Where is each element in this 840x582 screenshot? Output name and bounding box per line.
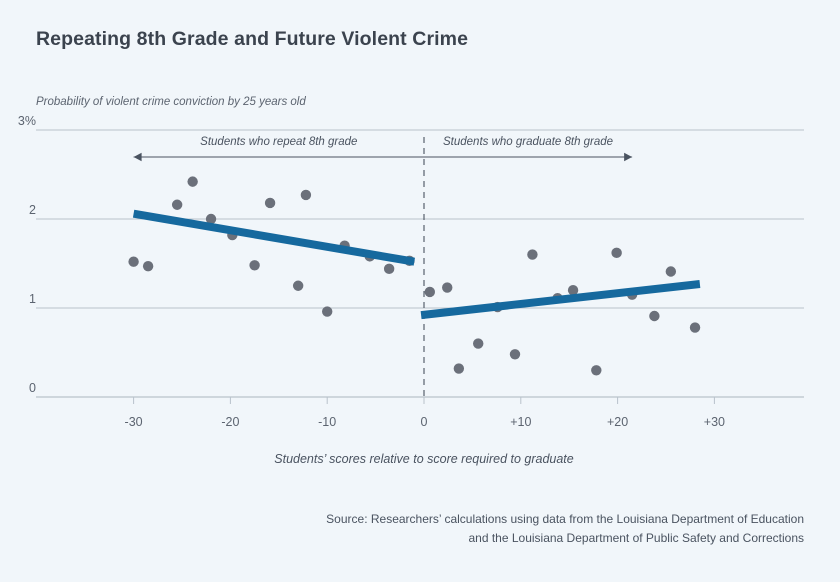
scatter-point	[187, 176, 197, 186]
annotation-arrow-head	[624, 153, 632, 161]
scatter-point	[322, 306, 332, 316]
scatter-point	[143, 261, 153, 271]
y-axis-tick-label: 3%	[10, 114, 36, 128]
fit-line-repeat	[134, 214, 415, 262]
x-axis-tick-label: -30	[125, 415, 143, 429]
scatter-point	[301, 190, 311, 200]
scatter-point	[293, 281, 303, 291]
scatter-point	[425, 287, 435, 297]
x-axis-tick-label: -20	[221, 415, 239, 429]
scatter-points-repeat	[128, 176, 414, 316]
x-axis-title: Students’ scores relative to score requi…	[274, 452, 573, 466]
fit-line-graduate	[421, 284, 700, 315]
scatter-point	[690, 322, 700, 332]
scatter-point	[442, 282, 452, 292]
scatter-point	[591, 365, 601, 375]
scatter-point	[384, 264, 394, 274]
scatter-point	[649, 311, 659, 321]
x-axis-tick-label: 0	[421, 415, 428, 429]
plot-area	[0, 0, 840, 582]
scatter-point	[265, 198, 275, 208]
scatter-point	[172, 200, 182, 210]
scatter-point	[527, 249, 537, 259]
scatter-point	[666, 266, 676, 276]
annotation-arrows	[134, 153, 633, 161]
x-axis-tick-label: -10	[318, 415, 336, 429]
chart-figure: Repeating 8th Grade and Future Violent C…	[0, 0, 840, 582]
source-line-2: and the Louisiana Department of Public S…	[204, 529, 804, 548]
annotation-label: Students who repeat 8th grade	[200, 136, 357, 148]
annotation-arrow-head	[134, 153, 142, 161]
x-axis-tick-label: +20	[607, 415, 628, 429]
source-note: Source: Researchers’ calculations using …	[204, 510, 804, 547]
fit-line	[134, 214, 415, 262]
scatter-point	[510, 349, 520, 359]
x-axis-tick-label: +30	[704, 415, 725, 429]
scatter-point	[473, 338, 483, 348]
scatter-point	[128, 257, 138, 267]
annotation-label: Students who graduate 8th grade	[443, 136, 613, 148]
y-axis-tick-label: 0	[10, 381, 36, 395]
y-axis-tick-label: 1	[10, 292, 36, 306]
y-axis-tick-label: 2	[10, 203, 36, 217]
scatter-point	[249, 260, 259, 270]
x-axis-tick-label: +10	[510, 415, 531, 429]
x-axis-ticks	[134, 397, 715, 404]
scatter-point	[611, 248, 621, 258]
fit-line	[421, 284, 700, 315]
source-line-1: Source: Researchers’ calculations using …	[204, 510, 804, 529]
scatter-point	[454, 363, 464, 373]
